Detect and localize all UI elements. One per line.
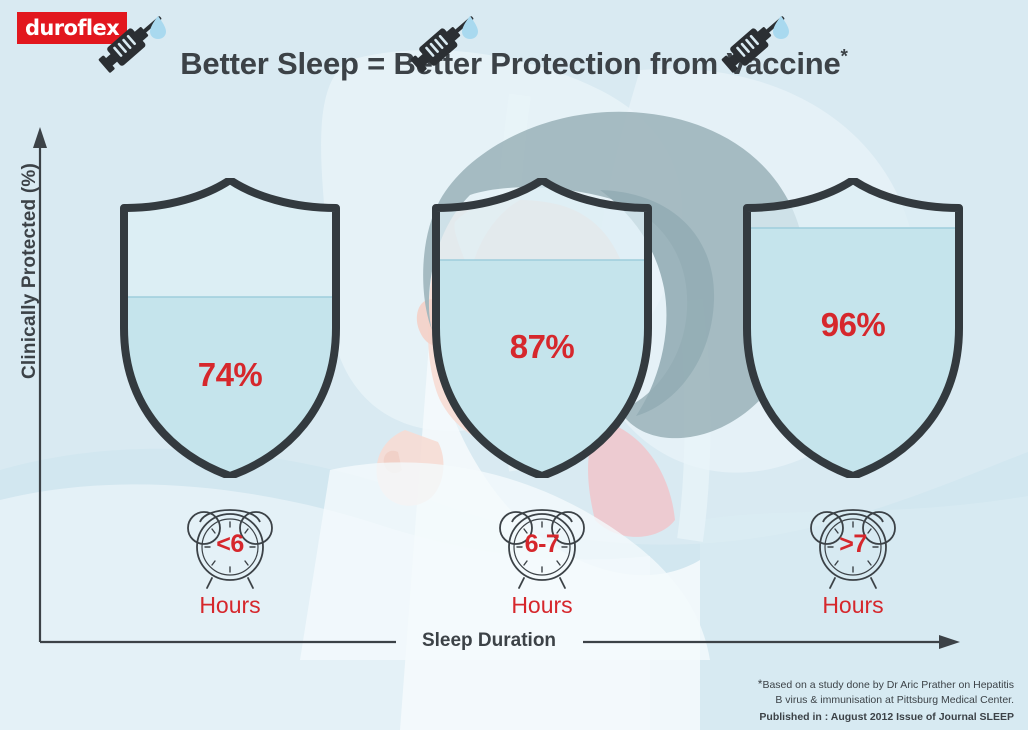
clock-value-6-to-7: 6-7 <box>484 530 600 559</box>
column-6-to-7: 87% <box>392 0 692 730</box>
percent-label-over-7: 96% <box>733 306 973 344</box>
clock-value-under-6: <6 <box>172 530 288 559</box>
column-under-6: 74% <box>80 0 380 730</box>
footnote: *Based on a study done by Dr Aric Prathe… <box>684 676 1014 725</box>
infographic-canvas: duroflex Better Sleep = Better Protectio… <box>0 0 1028 730</box>
clock-value-over-7: >7 <box>795 530 911 559</box>
clock-under-6: <6 Hours <box>152 500 308 630</box>
clock-6-to-7: 6-7 Hours <box>464 500 620 630</box>
footnote-published: Published in : August 2012 Issue of Jour… <box>684 710 1014 725</box>
y-axis-label: Clinically Protected (%) <box>19 61 41 481</box>
syringe-icon <box>715 6 795 76</box>
percent-label-6-to-7: 87% <box>422 328 662 366</box>
syringe-icon <box>92 6 172 76</box>
shield-gauge-6-to-7: 87% <box>422 178 662 478</box>
footnote-line-1: *Based on a study done by Dr Aric Prathe… <box>684 676 1014 693</box>
percent-label-under-6: 74% <box>110 356 350 394</box>
column-over-7: 96% <box>703 0 1003 730</box>
footnote-line-2: B virus & immunisation at Pittsburg Medi… <box>684 693 1014 708</box>
shield-gauge-over-7: 96% <box>733 178 973 478</box>
hours-label-over-7: Hours <box>775 592 931 619</box>
shield-gauge-under-6: 74% <box>110 178 350 478</box>
footnote-line-1-text: Based on a study done by Dr Aric Prather… <box>762 679 1014 691</box>
syringe-icon <box>404 6 484 76</box>
hours-label-under-6: Hours <box>152 592 308 619</box>
clock-over-7: >7 Hours <box>775 500 931 630</box>
hours-label-6-to-7: Hours <box>464 592 620 619</box>
